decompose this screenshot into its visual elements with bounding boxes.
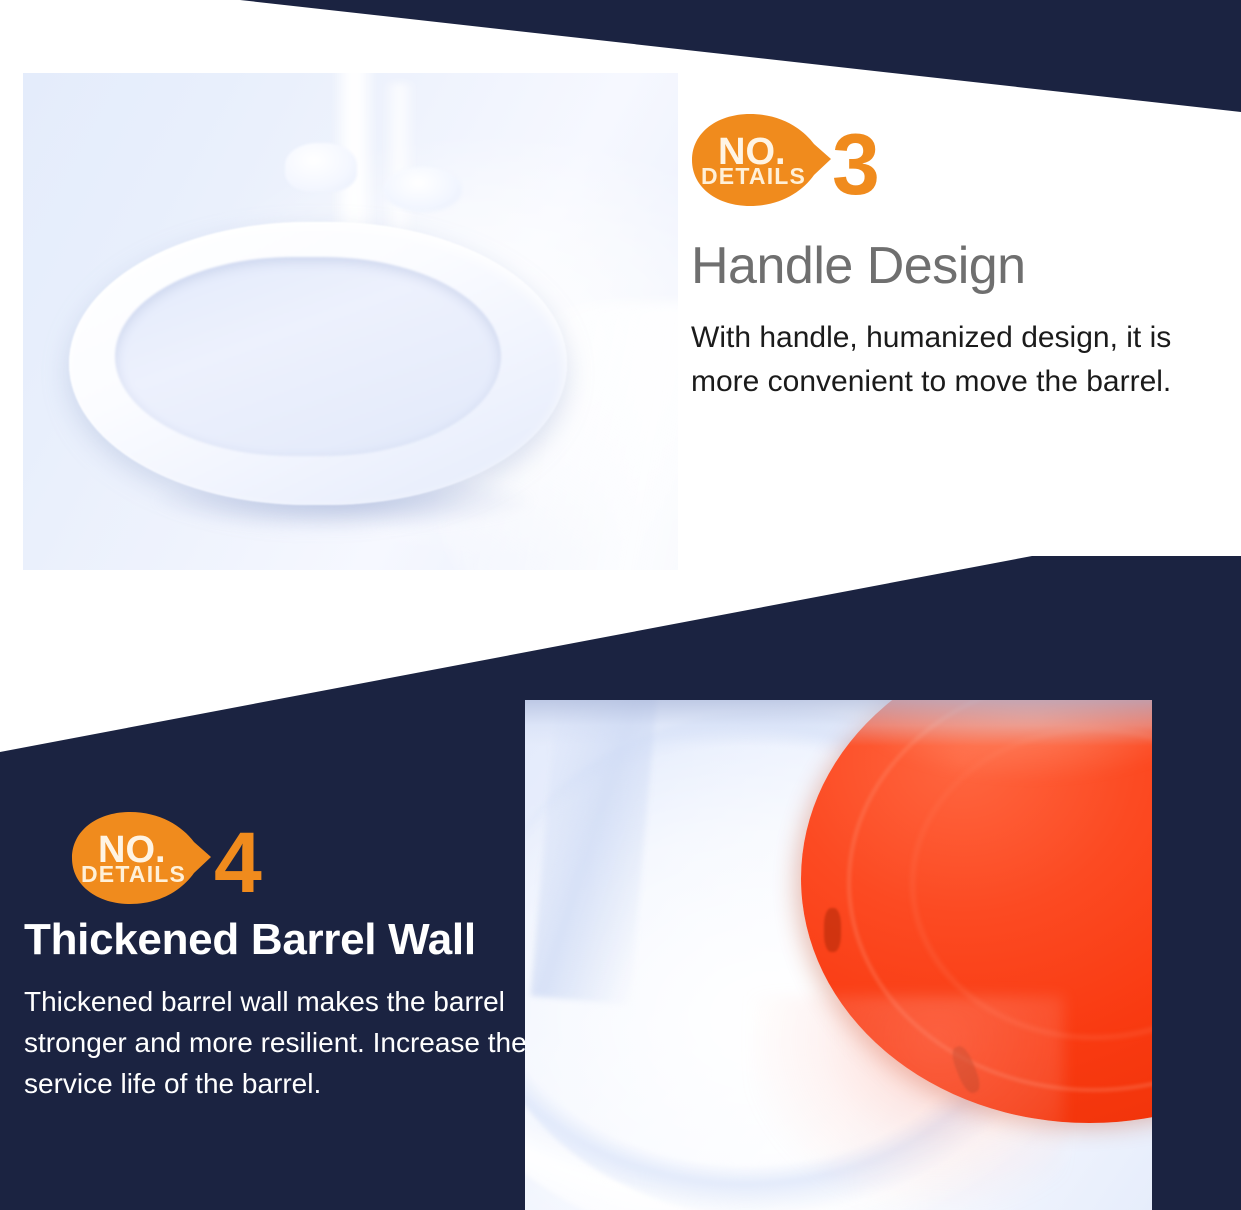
detail-badge-4: NO. DETAILS 4 bbox=[68, 806, 286, 910]
infographic-canvas: NO. DETAILS 3 Handle Design With handle,… bbox=[0, 0, 1241, 1210]
lid-edge-tab-1 bbox=[824, 908, 841, 952]
detail-badge-3: NO. DETAILS 3 bbox=[688, 108, 878, 212]
handle-grip-opening bbox=[115, 257, 501, 456]
badge-4-details-label: DETAILS bbox=[81, 861, 186, 887]
badge-4-graphic: NO. DETAILS 4 bbox=[68, 806, 286, 910]
badge-4-number: 4 bbox=[214, 815, 262, 910]
badge-3-details-label: DETAILS bbox=[701, 163, 806, 189]
handle-mount-left bbox=[285, 143, 357, 193]
handle-mount-right bbox=[383, 167, 462, 212]
section-4-heading: Thickened Barrel Wall bbox=[24, 916, 544, 964]
badge-3-graphic: NO. DETAILS 3 bbox=[688, 108, 878, 212]
barrel-wall-photo bbox=[525, 700, 1152, 1210]
lid-reflection-glow bbox=[751, 996, 1065, 1210]
photo-top-shadow bbox=[525, 700, 1152, 746]
section-4-text-block: Thickened Barrel Wall Thickened barrel w… bbox=[24, 916, 544, 1104]
badge-3-number: 3 bbox=[832, 117, 878, 212]
section-4-body: Thickened barrel wall makes the barrel s… bbox=[24, 982, 540, 1104]
section-3-heading: Handle Design bbox=[691, 238, 1231, 294]
section-3-body: With handle, humanized design, it is mor… bbox=[691, 316, 1221, 404]
handle-photo bbox=[23, 73, 678, 570]
section-3-text-block: Handle Design With handle, humanized des… bbox=[691, 238, 1231, 404]
